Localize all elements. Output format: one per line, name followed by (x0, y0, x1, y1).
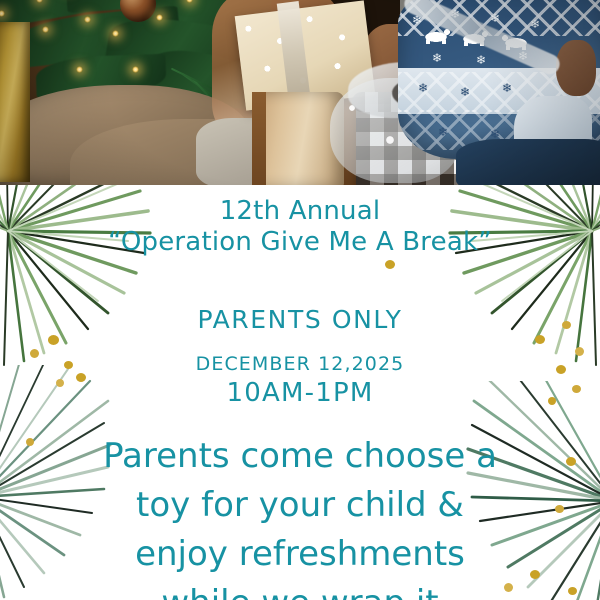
headline-line-1: 12th Annual (220, 196, 381, 226)
event-photo: ❄ ❄ ❄ ❄ ❄ ❄ ❄ ❄ ❄ ❄ ❄ ❄ (0, 0, 600, 185)
kraft-box-edge (252, 92, 266, 185)
description-line-1: Parents come choose a (0, 432, 600, 481)
description-line-3: enjoy refreshments (0, 530, 600, 579)
person-right-jeans (456, 139, 600, 185)
gold-gift-bag (0, 22, 30, 182)
poster-body: 12th Annual “Operation Give Me A Break” … (0, 185, 600, 600)
flyer-copy: 12th Annual “Operation Give Me A Break” … (0, 185, 600, 600)
event-date: DECEMBER 12,2025 (0, 353, 600, 375)
description-line-2: toy for your child & (0, 481, 600, 530)
page-title: 12th Annual “Operation Give Me A Break” (0, 185, 600, 257)
event-description: Parents come choose a toy for your child… (0, 432, 600, 600)
holiday-event-flyer: ❄ ❄ ❄ ❄ ❄ ❄ ❄ ❄ ❄ ❄ ❄ ❄ (0, 0, 600, 600)
headline-line-2: “Operation Give Me A Break” (0, 227, 600, 258)
person-right-hand (556, 40, 596, 96)
event-time: 10AM-1PM (0, 378, 600, 408)
audience-label: PARENTS ONLY (0, 305, 600, 334)
description-line-4: while we wrap it (0, 579, 600, 600)
